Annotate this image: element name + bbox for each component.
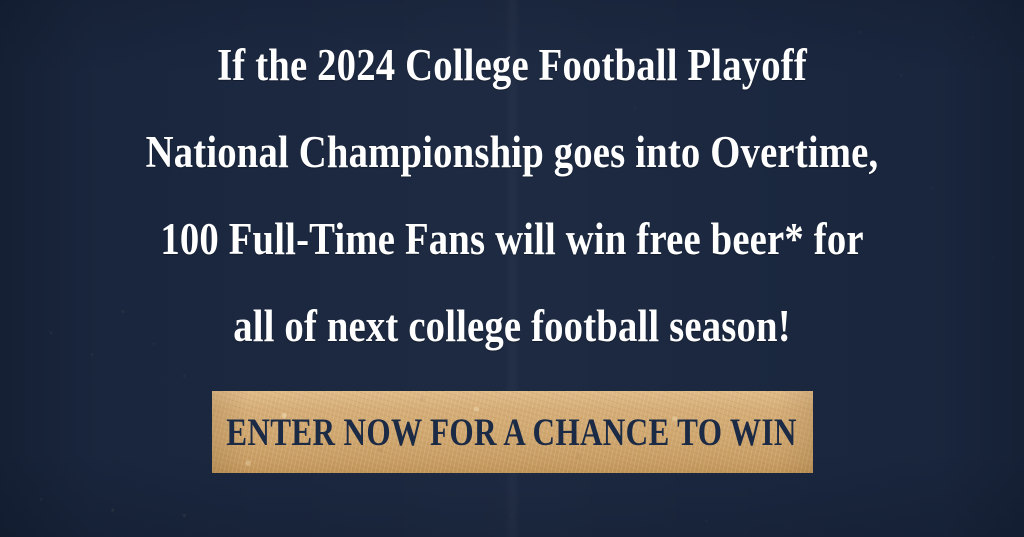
promo-banner: If the 2024 College Football Playoff Nat… (0, 0, 1024, 537)
headline-line-3: 100 Full-Time Fans will win free beer* f… (72, 196, 953, 283)
enter-now-button-label: ENTER NOW FOR A CHANCE TO WIN (227, 413, 797, 452)
headline-line-4: all of next college football season! (72, 283, 953, 370)
headline-line-1: If the 2024 College Football Playoff (72, 22, 953, 109)
promo-headline: If the 2024 College Football Playoff Nat… (0, 0, 1024, 370)
cta-container: ENTER NOW FOR A CHANCE TO WIN (0, 391, 1024, 473)
enter-now-button[interactable]: ENTER NOW FOR A CHANCE TO WIN (212, 391, 813, 473)
headline-line-2: National Championship goes into Overtime… (72, 109, 953, 196)
